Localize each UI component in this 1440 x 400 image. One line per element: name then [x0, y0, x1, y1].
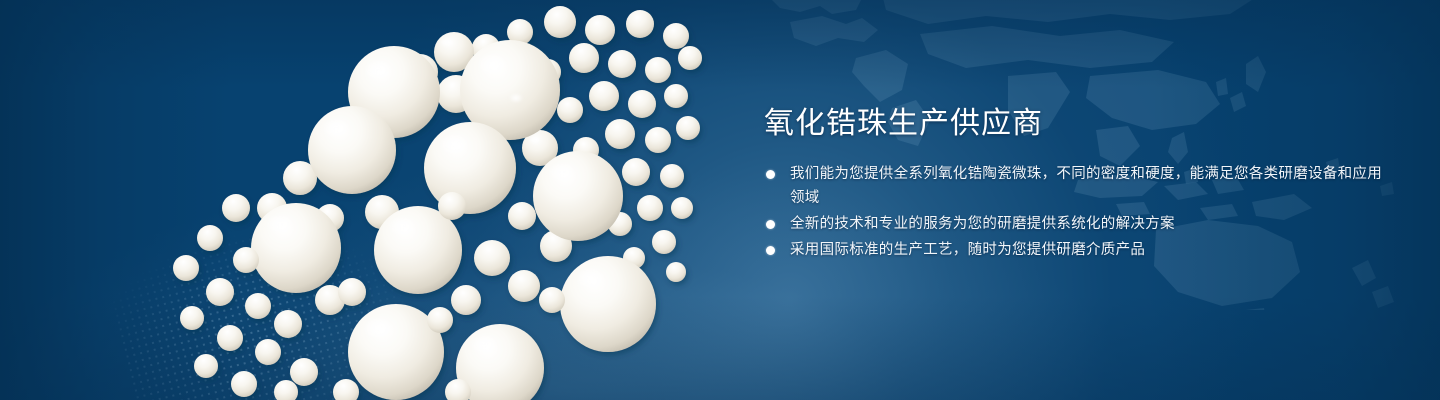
list-item-label: 采用国际标准的生产工艺，随时为您提供研磨介质产品 [790, 242, 1145, 258]
page-title: 氧化锆珠生产供应商 [764, 104, 1384, 144]
bullet-dot-icon [766, 220, 775, 229]
feature-list: 我们能为您提供全系列氧化锆陶瓷微珠，不同的密度和硬度，能满足您各类研磨设备和应用… [764, 162, 1384, 262]
hero-banner: 氧化锆珠生产供应商 我们能为您提供全系列氧化锆陶瓷微珠，不同的密度和硬度，能满足… [0, 0, 1440, 400]
list-item: 我们能为您提供全系列氧化锆陶瓷微珠，不同的密度和硬度，能满足您各类研磨设备和应用… [764, 162, 1384, 210]
list-item: 全新的技术和专业的服务为您的研磨提供系统化的解决方案 [764, 212, 1384, 236]
list-item: 采用国际标准的生产工艺，随时为您提供研磨介质产品 [764, 238, 1384, 262]
list-item-label: 全新的技术和专业的服务为您的研磨提供系统化的解决方案 [790, 216, 1175, 232]
list-item-label: 我们能为您提供全系列氧化锆陶瓷微珠，不同的密度和硬度，能满足您各类研磨设备和应用… [790, 166, 1382, 206]
bullet-dot-icon [766, 170, 775, 179]
banner-copy: 氧化锆珠生产供应商 我们能为您提供全系列氧化锆陶瓷微珠，不同的密度和硬度，能满足… [764, 104, 1384, 264]
bullet-dot-icon [766, 246, 775, 255]
